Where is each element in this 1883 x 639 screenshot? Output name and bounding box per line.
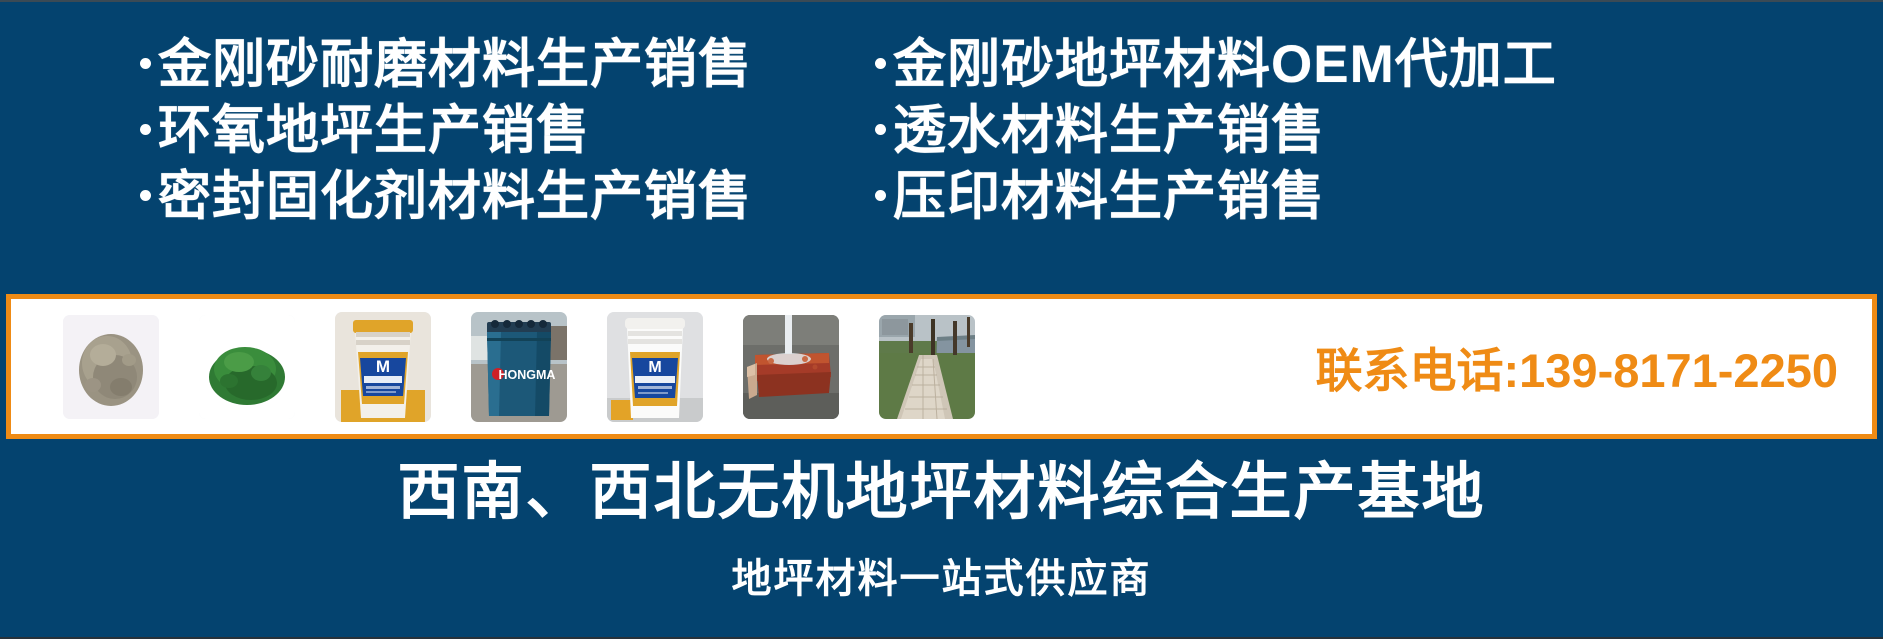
feature-label: 环氧地坪生产销售 bbox=[158, 98, 590, 164]
product-photo-list: M bbox=[11, 299, 975, 434]
promotional-banner: 金刚砂耐磨材料生产销售 环氧地坪生产销售 密封固化剂材料生产销售 金刚砂地坪材料… bbox=[0, 0, 1883, 639]
hongma-blue-drum-photo: HONGMA bbox=[471, 312, 567, 422]
feature-item: 压印材料生产销售 bbox=[875, 164, 1883, 230]
svg-text:M: M bbox=[376, 357, 390, 376]
feature-item: 金刚砂地坪材料OEM代加工 bbox=[875, 32, 1883, 98]
feature-list-right: 金刚砂地坪材料OEM代加工 透水材料生产销售 压印材料生产销售 bbox=[860, 32, 1883, 242]
feature-item: 密封固化剂材料生产销售 bbox=[140, 164, 860, 230]
bullet-dot-icon bbox=[875, 190, 886, 201]
bullet-dot-icon bbox=[140, 190, 151, 201]
footer-headline: 西南、西北无机地坪材料综合生产基地 bbox=[0, 457, 1883, 529]
feature-label: 压印材料生产销售 bbox=[893, 164, 1325, 230]
feature-label: 金刚砂耐磨材料生产销售 bbox=[158, 32, 752, 98]
feature-label: 密封固化剂材料生产销售 bbox=[158, 164, 752, 230]
concrete-sealer-bucket-photo: M bbox=[335, 312, 431, 422]
footer-subtitle: 地坪材料一站式供应商 bbox=[0, 554, 1883, 604]
svg-text:M: M bbox=[648, 359, 661, 376]
feature-item: 环氧地坪生产销售 bbox=[140, 98, 860, 164]
feature-label: 透水材料生产销售 bbox=[893, 98, 1325, 164]
feature-item: 透水材料生产销售 bbox=[875, 98, 1883, 164]
svg-text:HONGMA: HONGMA bbox=[499, 368, 556, 382]
epoxy-floor-coating-bucket-photo: M bbox=[607, 312, 703, 422]
contact-phone[interactable]: 联系电话:139-8171-2250 bbox=[1316, 332, 1873, 401]
gray-abrasive-powder-photo bbox=[63, 315, 159, 419]
feature-item: 金刚砂耐磨材料生产销售 bbox=[140, 32, 860, 98]
permeable-concrete-sample-photo bbox=[743, 315, 839, 419]
bullet-dot-icon bbox=[875, 124, 886, 135]
bullet-dot-icon bbox=[875, 58, 886, 69]
feature-lists: 金刚砂耐磨材料生产销售 环氧地坪生产销售 密封固化剂材料生产销售 金刚砂地坪材料… bbox=[0, 32, 1883, 242]
feature-label: 金刚砂地坪材料OEM代加工 bbox=[893, 32, 1557, 98]
feature-list-left: 金刚砂耐磨材料生产销售 环氧地坪生产销售 密封固化剂材料生产销售 bbox=[0, 32, 860, 242]
bullet-dot-icon bbox=[140, 58, 151, 69]
product-photo-strip: M bbox=[6, 294, 1877, 439]
bullet-dot-icon bbox=[140, 124, 151, 135]
stamped-concrete-path-photo bbox=[879, 315, 975, 419]
green-abrasive-powder-photo bbox=[199, 315, 295, 419]
